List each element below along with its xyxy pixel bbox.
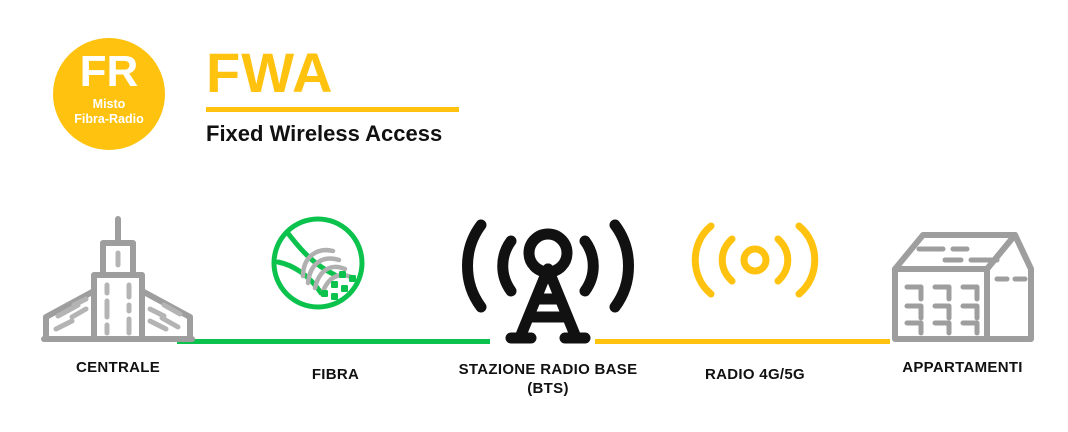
node-radio[interactable]: RADIO 4G/5G (675, 213, 835, 384)
fr-logo-badge: FR Misto Fibra-Radio (53, 38, 165, 150)
node-radio-label: RADIO 4G/5G (675, 365, 835, 384)
central-office-building-icon (28, 213, 208, 348)
title-divider (206, 107, 459, 112)
node-centrale[interactable]: CENTRALE (28, 213, 208, 377)
badge-subtitle-line-1: Misto (93, 97, 126, 112)
radio-tower-icon (443, 207, 653, 352)
badge-initials: FR (80, 50, 139, 94)
node-appartamenti-label: APPARTAMENTI (875, 358, 1050, 377)
wireless-signal-icon (675, 213, 835, 313)
node-bts[interactable]: STAZIONE RADIO BASE (BTS) (443, 207, 653, 398)
page-title-acronym: FWA (206, 44, 476, 102)
title-group: FWA Fixed Wireless Access (206, 44, 476, 147)
node-centrale-label: CENTRALE (28, 358, 208, 377)
node-bts-label: STAZIONE RADIO BASE (BTS) (443, 360, 653, 398)
fiber-optic-cable-icon (263, 213, 408, 313)
fwa-network-diagram: CENTRALE (0, 185, 1068, 432)
node-fibra[interactable]: FIBRA (263, 213, 408, 384)
apartment-building-icon (875, 213, 1050, 348)
header-block: FR Misto Fibra-Radio FWA Fixed Wireless … (0, 0, 1068, 185)
page-title-expansion: Fixed Wireless Access (206, 121, 476, 147)
badge-subtitle-line-2: Fibra-Radio (74, 112, 143, 127)
node-appartamenti[interactable]: APPARTAMENTI (875, 213, 1050, 377)
node-fibra-label: FIBRA (263, 365, 408, 384)
